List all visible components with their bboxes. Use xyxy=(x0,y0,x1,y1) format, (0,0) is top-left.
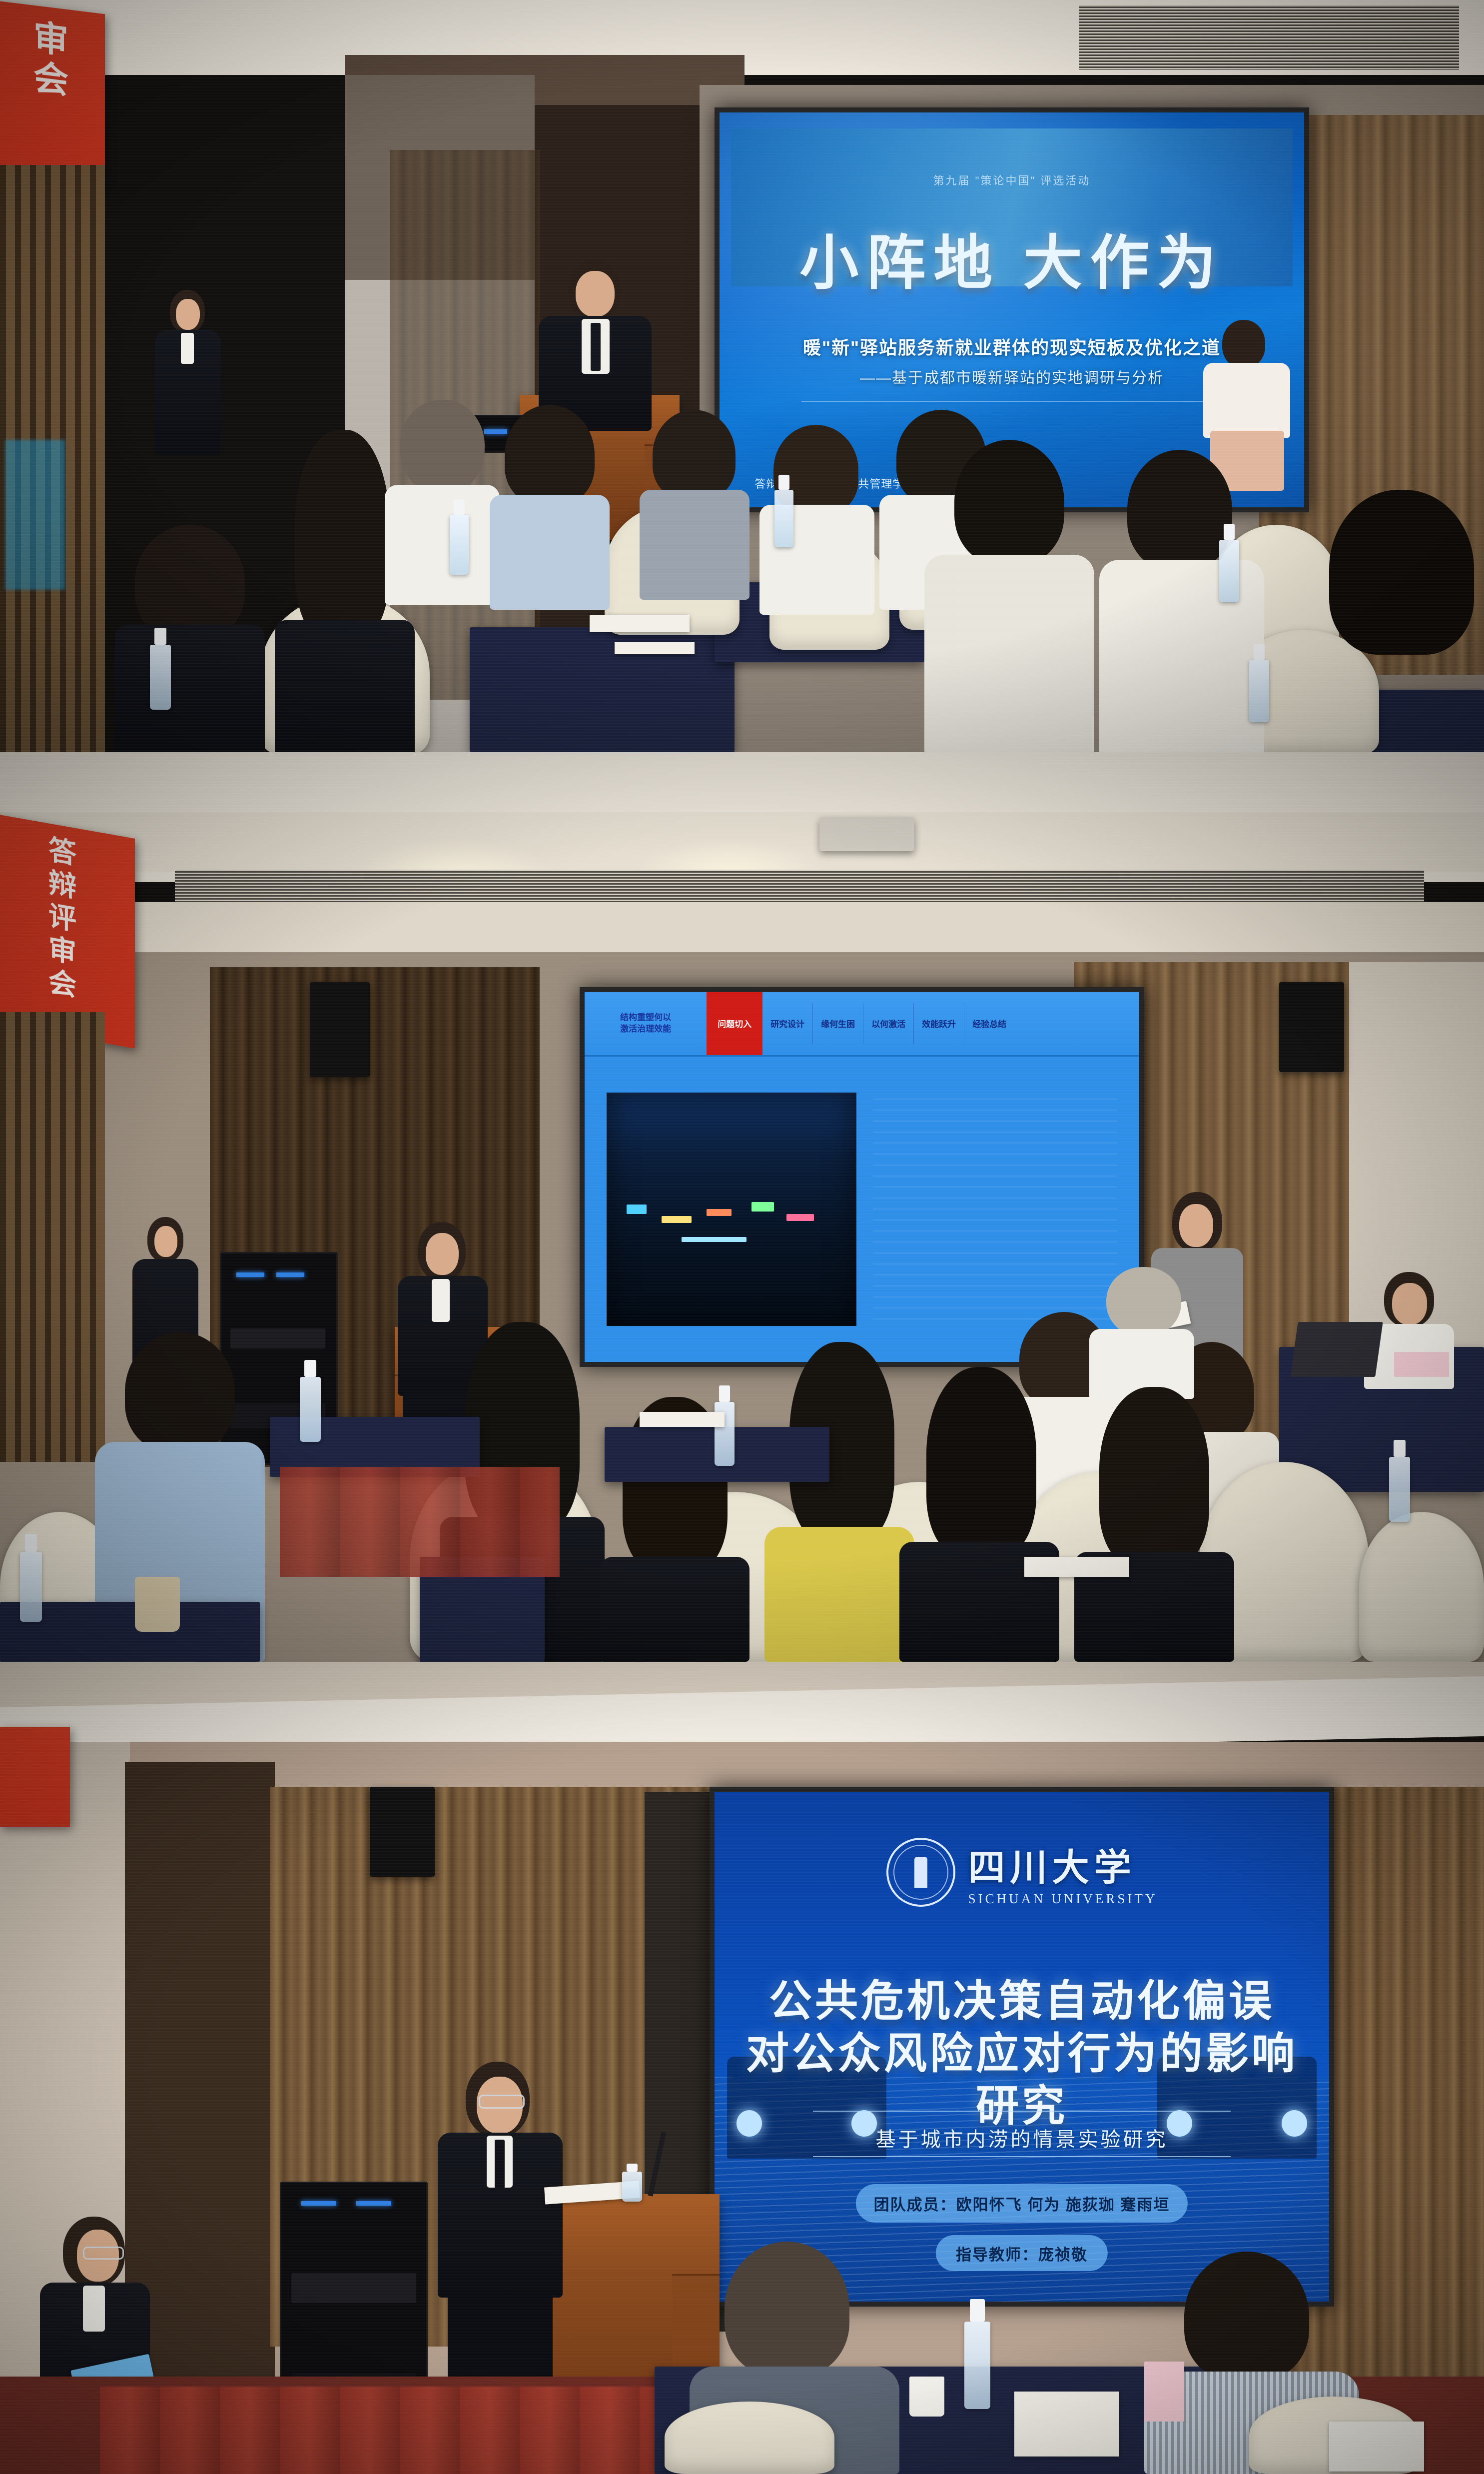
slide-2-nav-divider xyxy=(585,1055,1139,1057)
water-bottle xyxy=(1249,660,1269,722)
chair xyxy=(665,2402,834,2474)
audience-member-foreground xyxy=(899,1367,1059,1662)
slide-2: 结构重塑何以 激活治理效能 问题切入 研究设计 缘何生困 以何激活 效能跃升 xyxy=(585,992,1139,1362)
chair xyxy=(1359,1512,1484,1662)
name-card xyxy=(1394,1352,1449,1377)
conference-room-2: 结构重塑何以 激活治理效能 问题切入 研究设计 缘何生困 以何激活 效能跃升 xyxy=(0,752,1484,1662)
slide-3-university-logo: 四川大学 SICHUAN UNIVERSITY xyxy=(715,1838,1329,1907)
projection-screen-3: 四川大学 SICHUAN UNIVERSITY 公共危机决策自动化偏误 对公众风… xyxy=(710,1787,1334,2307)
eyeglasses-icon xyxy=(83,2247,124,2260)
photo-collage: 第九届 "策论中国" 评选活动 小阵地 大作为 暖"新"驿站服务新就业群体的现实… xyxy=(0,0,1484,2474)
wall-speaker-3 xyxy=(370,1787,435,1877)
audience-member-foreground xyxy=(924,440,1094,752)
slide-2-brand-line-1: 结构重塑何以 xyxy=(620,1012,671,1024)
documents xyxy=(1329,2422,1424,2472)
audience-member-foreground xyxy=(764,1342,914,1662)
water-bottle xyxy=(450,515,469,575)
carpet xyxy=(280,1467,560,1577)
wall-speaker-right xyxy=(1279,982,1344,1072)
panel-3-third-presentation: 四川大学 SICHUAN UNIVERSITY 公共危机决策自动化偏误 对公众风… xyxy=(0,1662,1484,2474)
panel-1-first-presentation: 第九届 "策论中国" 评选活动 小阵地 大作为 暖"新"驿站服务新就业群体的现实… xyxy=(0,0,1484,752)
air-vent-grille xyxy=(1079,5,1459,70)
documents-stack xyxy=(1014,2392,1119,2457)
laptop xyxy=(1290,1322,1383,1377)
audience-table-1 xyxy=(470,627,735,752)
presenter-1 xyxy=(530,260,660,425)
event-banner-3 xyxy=(0,1727,70,1827)
slide-2-tab-4[interactable]: 效能跃升 xyxy=(914,992,964,1055)
slide-3-subtitle: 基于城市内涝的情景实验研究 xyxy=(715,2123,1329,2152)
slide-2-tab-3[interactable]: 以何激活 xyxy=(863,992,913,1055)
lattice-screen-2 xyxy=(0,1012,105,1462)
slide-2-street-photo xyxy=(607,1093,856,1326)
audience-member-foreground xyxy=(1099,450,1264,752)
conference-room-1: 第九届 "策论中国" 评选活动 小阵地 大作为 暖"新"驿站服务新就业群体的现实… xyxy=(0,0,1484,752)
slide-2-text-lines xyxy=(873,1099,1117,1326)
university-name-cn: 四川大学 xyxy=(968,1838,1136,1891)
cup xyxy=(909,2377,944,2417)
slide-3-divider-top xyxy=(813,2111,1231,2112)
slide-2-tab-5[interactable]: 经验总结 xyxy=(964,992,1014,1055)
audience-member-foreground xyxy=(1309,490,1484,752)
slide-1-main-title: 小阵地 大作为 xyxy=(720,215,1304,300)
water-bottle xyxy=(1389,1457,1410,1522)
documents xyxy=(1024,1557,1129,1577)
presenter-1-necktie xyxy=(591,323,601,371)
audience-member xyxy=(490,405,610,615)
water-bottle xyxy=(964,2322,990,2409)
projection-screen-2: 结构重塑何以 激活治理效能 问题切入 研究设计 缘何生困 以何激活 效能跃升 xyxy=(580,987,1144,1367)
water-bottle xyxy=(150,645,171,710)
sichuan-university-seal-icon xyxy=(886,1838,955,1907)
documents xyxy=(640,1412,725,1427)
audience-member xyxy=(115,525,265,752)
slide-3-advisor: 指导教师：庞祯敬 xyxy=(936,2235,1108,2271)
presenter-3-necktie xyxy=(495,2140,505,2189)
panel-2-second-presentation: 结构重塑何以 激活治理效能 问题切入 研究设计 缘何生困 以何激活 效能跃升 xyxy=(0,752,1484,1662)
slide-2-brand-line-2: 激活治理效能 xyxy=(620,1024,671,1035)
air-vent-grille-2 xyxy=(175,870,1424,905)
slide-3: 四川大学 SICHUAN UNIVERSITY 公共危机决策自动化偏误 对公众风… xyxy=(715,1792,1329,2302)
documents xyxy=(590,615,690,632)
slide-2-tab-1[interactable]: 研究设计 xyxy=(762,992,812,1055)
audience-member xyxy=(385,400,500,650)
ceiling-projector xyxy=(819,817,914,851)
university-name-en: SICHUAN UNIVERSITY xyxy=(968,1891,1158,1907)
water-bottle xyxy=(300,1377,321,1442)
documents xyxy=(615,642,695,654)
iced-coffee-cup xyxy=(135,1577,180,1632)
presenter-1-face xyxy=(576,271,615,317)
slide-3-title-line-2: 对公众风险应对行为的影响研究 xyxy=(739,2028,1305,2133)
eyeglasses-icon xyxy=(479,2095,525,2109)
slide-3-title: 公共危机决策自动化偏误 对公众风险应对行为的影响研究 xyxy=(739,1975,1305,2133)
slide-2-tab-0[interactable]: 问题切入 xyxy=(707,992,762,1055)
window-glow xyxy=(5,440,65,590)
water-bottle xyxy=(622,2172,642,2202)
slide-3-divider-bottom xyxy=(813,2156,1231,2157)
staff-standing-1 xyxy=(150,290,225,455)
slide-1-divider xyxy=(801,401,1222,402)
slide-2-tab-2[interactable]: 缘何生困 xyxy=(813,992,863,1055)
carpet-pattern xyxy=(100,2387,725,2474)
slide-2-navbar: 结构重塑何以 激活治理效能 问题切入 研究设计 缘何生困 以何激活 效能跃升 xyxy=(585,992,1139,1055)
conference-room-3: 四川大学 SICHUAN UNIVERSITY 公共危机决策自动化偏误 对公众风… xyxy=(0,1662,1484,2474)
slide-1-header: 第九届 "策论中国" 评选活动 xyxy=(720,172,1304,188)
audience-member xyxy=(1089,1267,1194,1392)
water-bottle xyxy=(1219,540,1239,602)
audience-member xyxy=(640,410,749,610)
water-bottle xyxy=(20,1552,42,1622)
slide-2-brand: 结构重塑何以 激活治理效能 xyxy=(585,992,707,1055)
water-bottle xyxy=(774,490,793,547)
audience-member-foreground xyxy=(1074,1387,1234,1662)
slide-3-team-members: 团队成员：欧阳怀飞 何为 施荻珈 蹇雨垣 xyxy=(856,2184,1188,2223)
slide-3-title-line-1: 公共危机决策自动化偏误 xyxy=(739,1975,1305,2028)
wall-speaker-left xyxy=(310,982,370,1077)
name-card xyxy=(1144,2362,1184,2422)
